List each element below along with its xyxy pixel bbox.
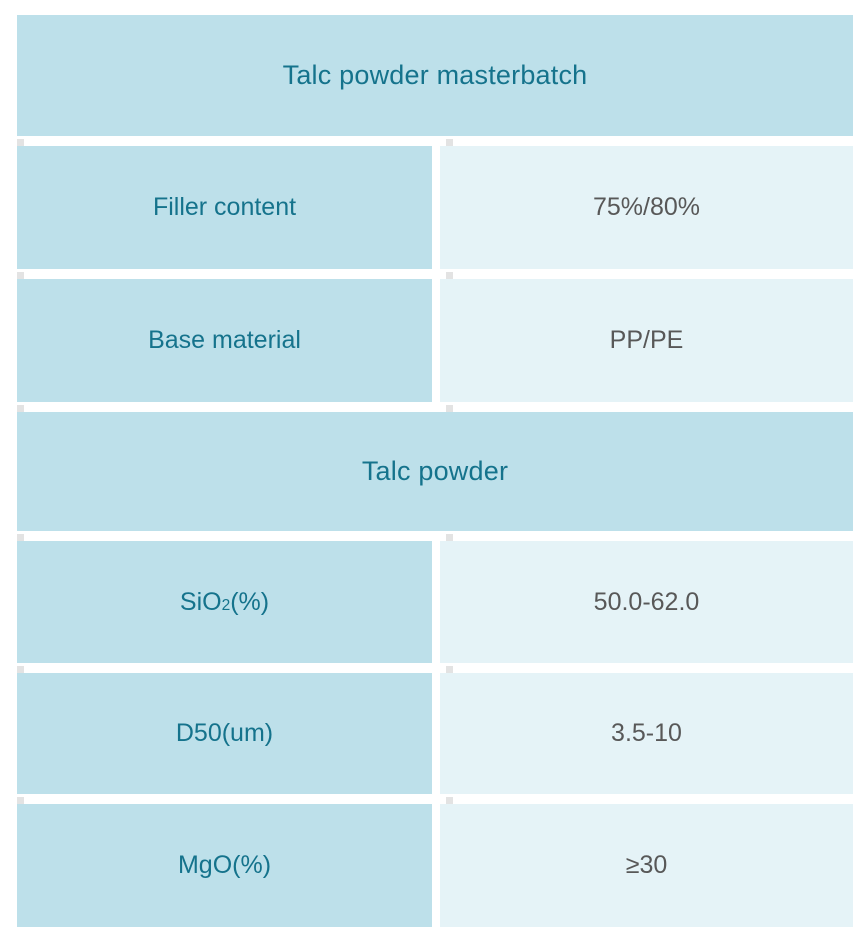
section-title-talc-powder: Talc powder (17, 412, 853, 531)
sio2-main: SiO (180, 588, 222, 617)
table-row: SiO2(%) 50.0-62.0 (17, 541, 853, 663)
cell-handle[interactable] (446, 797, 453, 804)
row-handle[interactable] (17, 534, 24, 541)
row-value-mgo: ≥30 (440, 804, 853, 927)
table-row: Base material PP/PE (17, 279, 853, 402)
row-value-base-material: PP/PE (440, 279, 853, 402)
table-row: MgO(%) ≥30 (17, 804, 853, 927)
row-label-sio2: SiO2(%) (17, 541, 432, 663)
row-handle[interactable] (17, 666, 24, 673)
section-header-row: Talc powder (17, 412, 853, 531)
section-header-row: Talc powder masterbatch (17, 15, 853, 136)
spec-table: Talc powder masterbatch Filler content 7… (17, 15, 853, 945)
column-divider (432, 541, 440, 663)
row-label-base-material: Base material (17, 279, 432, 402)
row-value-sio2: 50.0-62.0 (440, 541, 853, 663)
row-handle[interactable] (17, 272, 24, 279)
row-label-filler-content: Filler content (17, 146, 432, 269)
row-value-filler-content: 75%/80% (440, 146, 853, 269)
column-divider (432, 279, 440, 402)
sio2-subscript: 2 (222, 597, 231, 615)
row-label-mgo: MgO(%) (17, 804, 432, 927)
cell-handle[interactable] (446, 139, 453, 146)
table-row: Filler content 75%/80% (17, 146, 853, 269)
cell-handle[interactable] (446, 666, 453, 673)
row-handle[interactable] (17, 797, 24, 804)
row-label-d50: D50(um) (17, 673, 432, 794)
column-divider (432, 146, 440, 269)
column-divider (432, 804, 440, 927)
sio2-tail: (%) (230, 588, 269, 617)
cell-handle[interactable] (446, 405, 453, 412)
table-row: D50(um) 3.5-10 (17, 673, 853, 794)
row-handle[interactable] (17, 405, 24, 412)
column-divider (432, 673, 440, 794)
row-handle[interactable] (17, 139, 24, 146)
row-value-d50: 3.5-10 (440, 673, 853, 794)
section-title-masterbatch: Talc powder masterbatch (17, 15, 853, 136)
cell-handle[interactable] (446, 272, 453, 279)
cell-handle[interactable] (446, 534, 453, 541)
